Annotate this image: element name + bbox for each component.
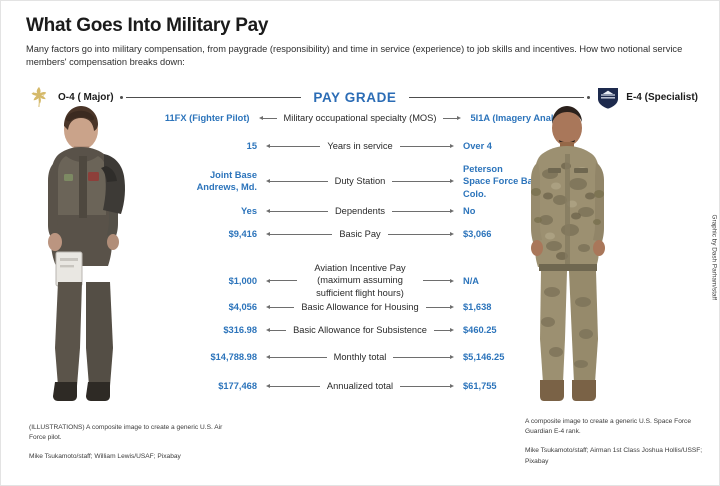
row-label: Duty Station	[328, 175, 393, 187]
right-connector	[443, 116, 461, 120]
right-connector	[392, 209, 454, 213]
comparison-row: $14,788.98Monthly total$5,146.25	[150, 351, 570, 363]
comparison-row: $9,416Basic Pay$3,066	[150, 228, 570, 240]
right-connector	[434, 328, 454, 332]
right-photo-caption: A composite image to create a generic U.…	[525, 417, 705, 467]
right-caption-line1: A composite image to create a generic U.…	[525, 417, 705, 437]
row-label: Basic Allowance for Subsistence	[286, 324, 434, 336]
paygrade-line-left	[126, 97, 302, 98]
graphic-credit: Graphic by Dash Parham/staff	[710, 215, 717, 300]
right-connector	[426, 305, 454, 309]
right-connector	[392, 179, 454, 183]
row-left-value: $1,000	[150, 275, 266, 287]
row-label-group: Dependents	[266, 205, 454, 217]
row-label: Years in service	[320, 140, 399, 152]
comparison-row: $316.98Basic Allowance for Subsistence$4…	[150, 324, 570, 336]
comparison-rows: 11FX (Fighter Pilot)Military occupationa…	[150, 112, 570, 412]
right-connector	[400, 144, 454, 148]
left-connector	[266, 179, 328, 183]
row-label: Monthly total	[327, 351, 394, 363]
row-left-value: $4,056	[150, 301, 266, 313]
left-caption-credit: Mike Tsukamoto/staff; William Lewis/USAF…	[29, 452, 234, 462]
left-caption-line1: (ILLUSTRATIONS) A composite image to cre…	[29, 423, 234, 443]
row-label: Military occupational specialty (MOS)	[277, 112, 444, 124]
row-label-group: Aviation Incentive Pay (maximum assuming…	[266, 262, 454, 299]
left-connector	[266, 279, 297, 283]
row-label: Dependents	[328, 205, 392, 217]
paygrade-title: PAY GRADE	[301, 90, 408, 105]
left-connector	[266, 232, 332, 236]
row-label-group: Duty Station	[266, 175, 454, 187]
left-photo-caption: (ILLUSTRATIONS) A composite image to cre…	[29, 423, 234, 463]
row-left-value: $9,416	[150, 228, 266, 240]
right-connector	[423, 279, 454, 283]
row-left-value: $177,468	[150, 380, 266, 392]
row-label-group: Annualized total	[266, 380, 454, 392]
left-connector	[266, 328, 286, 332]
comparison-row: 11FX (Fighter Pilot)Military occupationa…	[150, 112, 570, 124]
comparison-row: YesDependentsNo	[150, 205, 570, 217]
space-force-guardian-photo	[512, 96, 624, 406]
row-label-group: Years in service	[266, 140, 454, 152]
row-label-group: Military occupational specialty (MOS)	[259, 112, 462, 124]
left-connector	[266, 355, 327, 359]
air-force-pilot-photo	[26, 96, 146, 406]
left-connector	[266, 144, 320, 148]
right-connector	[388, 232, 454, 236]
comparison-row: 15Years in serviceOver 4	[150, 140, 570, 152]
left-connector	[259, 116, 277, 120]
comparison-row: $1,000Aviation Incentive Pay (maximum as…	[150, 262, 570, 299]
right-caption-credit: Mike Tsukamoto/staff; Airman 1st Class J…	[525, 446, 705, 466]
row-left-value: Joint BaseAndrews, Md.	[150, 169, 266, 194]
right-rank-label: E-4 (Specialist)	[626, 92, 698, 103]
row-label: Basic Pay	[332, 228, 387, 240]
comparison-row: Joint BaseAndrews, Md.Duty StationPeters…	[150, 163, 570, 200]
left-connector	[266, 305, 294, 309]
left-connector	[266, 209, 328, 213]
row-label-group: Basic Allowance for Housing	[266, 301, 454, 313]
row-label-group: Basic Allowance for Subsistence	[266, 324, 454, 336]
row-left-value: $316.98	[150, 324, 266, 336]
left-connector	[266, 384, 320, 388]
comparison-row: $177,468Annualized total$61,755	[150, 380, 570, 392]
row-left-value: Yes	[150, 205, 266, 217]
page-title: What Goes Into Military Pay	[26, 16, 696, 37]
row-left-value: 15	[150, 140, 266, 152]
right-connector	[400, 384, 454, 388]
row-left-value: 11FX (Fighter Pilot)	[150, 112, 259, 124]
page-deck: Many factors go into military compensati…	[26, 43, 692, 69]
row-label-group: Basic Pay	[266, 228, 454, 240]
row-left-value: $14,788.98	[150, 351, 266, 363]
right-connector	[393, 355, 454, 359]
row-label-group: Monthly total	[266, 351, 454, 363]
row-label: Annualized total	[320, 380, 400, 392]
row-label: Basic Allowance for Housing	[294, 301, 425, 313]
row-label: Aviation Incentive Pay (maximum assuming…	[297, 262, 423, 299]
infographic-page: What Goes Into Military Pay Many factors…	[0, 0, 720, 486]
comparison-row: $4,056Basic Allowance for Housing$1,638	[150, 301, 570, 313]
